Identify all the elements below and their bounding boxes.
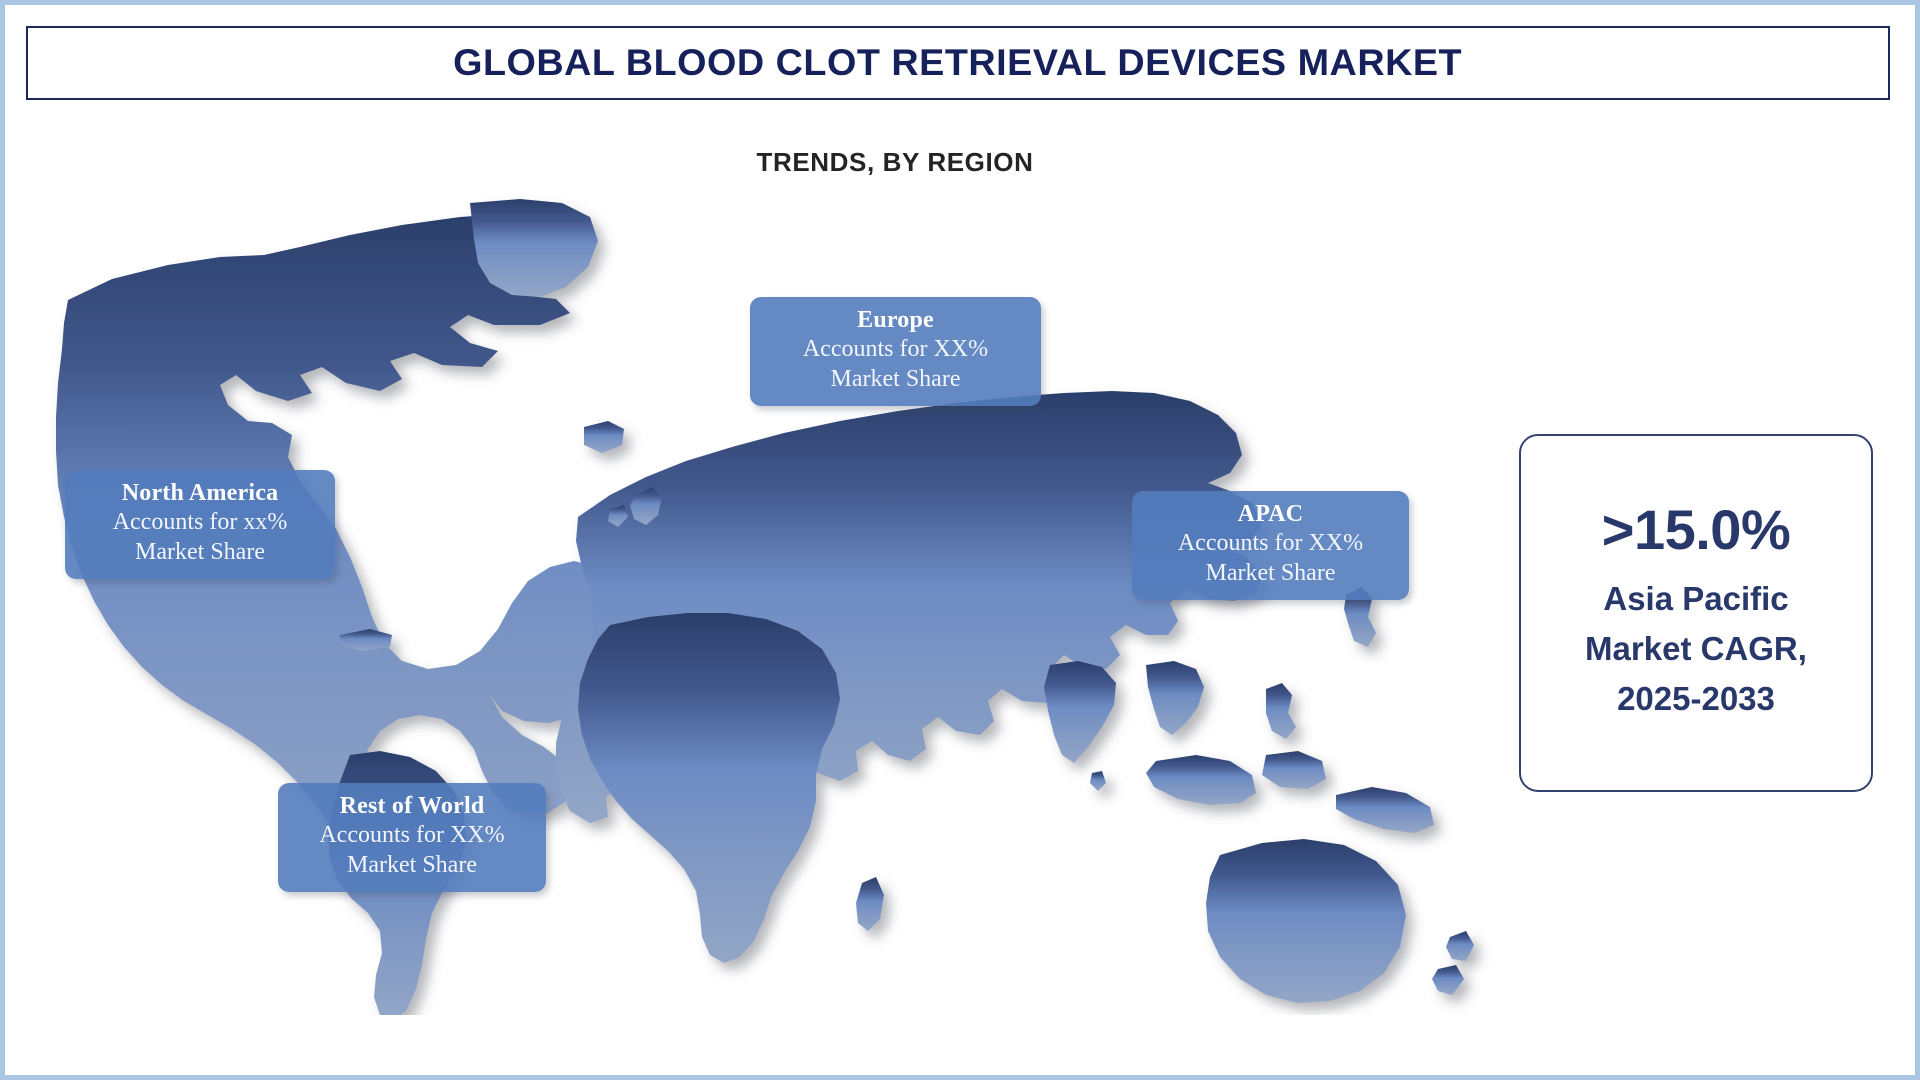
cagr-region-label: Asia Pacific xyxy=(1603,574,1788,624)
borneo-landmass xyxy=(1262,751,1326,789)
cagr-period-label: 2025-2033 xyxy=(1617,674,1775,724)
cagr-metric-label: Market CAGR, xyxy=(1585,624,1807,674)
title-banner: GLOBAL BLOOD CLOT RETRIEVAL DEVICES MARK… xyxy=(26,26,1890,100)
region-share-line: Accounts for XX% xyxy=(766,335,1025,364)
india-landmass xyxy=(1044,661,1116,763)
region-share-line: Accounts for XX% xyxy=(294,821,530,850)
page-subtitle: TRENDS, BY REGION xyxy=(5,147,1785,178)
region-label-europe[interactable]: Europe Accounts for XX% Market Share xyxy=(750,297,1041,406)
infographic-root: GLOBAL BLOOD CLOT RETRIEVAL DEVICES MARK… xyxy=(0,0,1920,1080)
new-zealand-south-landmass xyxy=(1432,965,1464,995)
cagr-callout: >15.0% Asia Pacific Market CAGR, 2025-20… xyxy=(1519,434,1873,792)
philippines-landmass xyxy=(1266,683,1296,739)
region-share-sublabel: Market Share xyxy=(81,538,319,567)
region-name: Rest of World xyxy=(294,792,530,821)
region-share-line: Accounts for XX% xyxy=(1148,529,1393,558)
region-name: Europe xyxy=(766,306,1025,335)
sri-lanka-landmass xyxy=(1090,771,1106,791)
region-label-rest-of-world[interactable]: Rest of World Accounts for XX% Market Sh… xyxy=(278,783,546,892)
iceland-landmass xyxy=(584,421,624,453)
madagascar-landmass xyxy=(856,877,884,931)
region-name: APAC xyxy=(1148,500,1393,529)
southeast-asia-landmass xyxy=(1146,661,1204,735)
region-share-sublabel: Market Share xyxy=(766,365,1025,394)
region-label-apac[interactable]: APAC Accounts for XX% Market Share xyxy=(1132,491,1409,600)
cagr-value: >15.0% xyxy=(1602,501,1791,560)
australia-landmass xyxy=(1206,839,1406,1003)
page-title: GLOBAL BLOOD CLOT RETRIEVAL DEVICES MARK… xyxy=(453,42,1462,84)
region-share-sublabel: Market Share xyxy=(294,851,530,880)
africa-landmass xyxy=(578,613,840,963)
region-share-sublabel: Market Share xyxy=(1148,559,1393,588)
new-zealand-north-landmass xyxy=(1446,931,1474,961)
indonesia-landmass xyxy=(1146,755,1256,805)
region-label-north-america[interactable]: North America Accounts for xx% Market Sh… xyxy=(65,470,335,579)
new-guinea-landmass xyxy=(1336,787,1434,833)
region-share-line: Accounts for xx% xyxy=(81,508,319,537)
region-name: North America xyxy=(81,479,319,508)
